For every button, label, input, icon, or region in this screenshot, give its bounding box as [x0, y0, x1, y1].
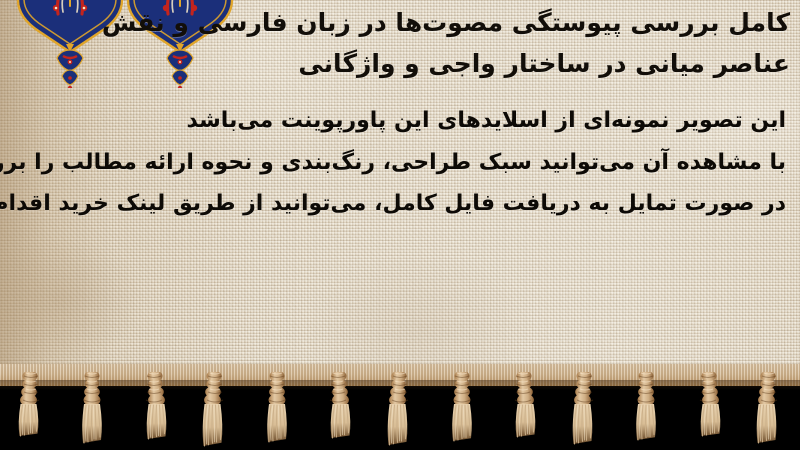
tassel [61, 372, 123, 450]
tassel [123, 372, 185, 450]
tassel [615, 372, 677, 450]
tassel [431, 372, 493, 450]
tassel [246, 372, 308, 450]
slide-title: کامل بررسی پیوستگی مصوت‌ها در زبان فارسی… [110, 2, 790, 84]
tassel-group [0, 372, 800, 450]
slide-body: این تصویر نمونه‌ای از اسلایدهای این پاور… [16, 108, 786, 216]
tassel [369, 372, 431, 450]
tassel [677, 372, 739, 450]
tassel [0, 372, 62, 450]
tassel [554, 372, 616, 450]
title-line-2: عناصر میانی در ساختار واجی و واژگانی [110, 43, 790, 84]
body-line-1: این تصویر نمونه‌ای از اسلایدهای این پاور… [16, 108, 786, 133]
fringe-band [0, 364, 800, 450]
tassel [492, 372, 554, 450]
tassel [738, 372, 800, 450]
body-line-2: با مشاهده آن می‌توانید سبک طراحی، رنگ‌بن… [16, 150, 786, 175]
title-line-1: کامل بررسی پیوستگی مصوت‌ها در زبان فارسی… [110, 2, 790, 43]
slide-canvas: کامل بررسی پیوستگی مصوت‌ها در زبان فارسی… [0, 0, 800, 450]
tassel [184, 372, 246, 450]
body-line-3: در صورت تمایل به دریافت فایل کامل، می‌تو… [16, 191, 786, 216]
tassel [307, 372, 369, 450]
